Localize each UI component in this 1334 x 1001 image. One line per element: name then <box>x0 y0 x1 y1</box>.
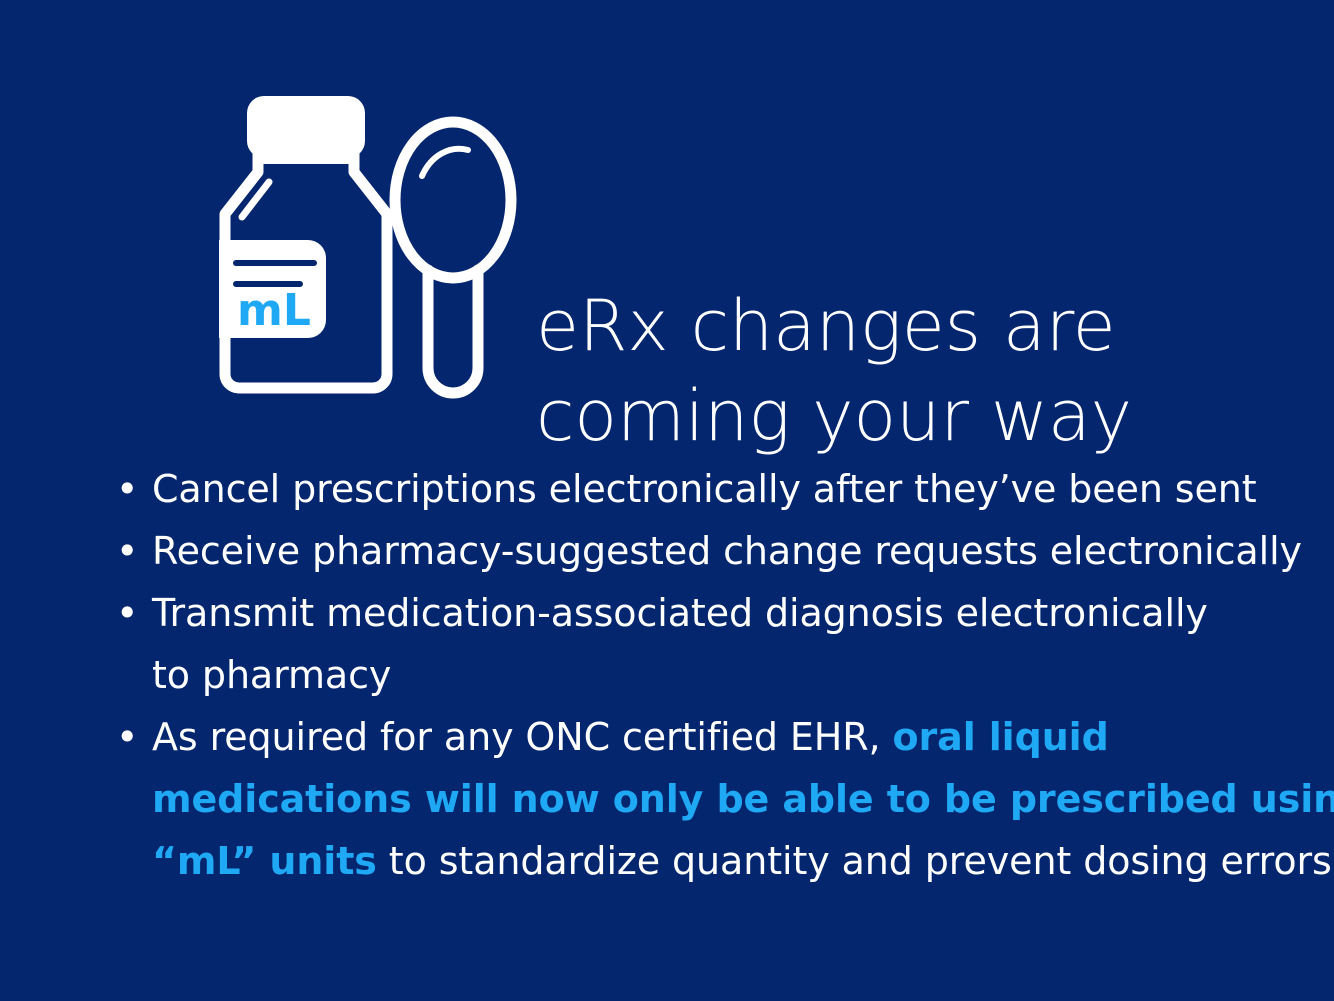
list-item-text: medications will now only be able to be … <box>152 768 1334 830</box>
plain-text: Receive pharmacy-suggested change reques… <box>152 529 1302 573</box>
spoon-handle-outline <box>428 270 478 393</box>
emphasis-text: oral liquid <box>893 715 1109 759</box>
list-item-text: to pharmacy <box>152 644 1290 706</box>
emphasis-text: medications will now only be able to be … <box>152 777 1334 821</box>
plain-text: to standardize quantity and prevent dosi… <box>377 839 1332 883</box>
bullet-marker-icon: • <box>110 706 152 768</box>
medicine-bottle-and-spoon-icon: mL <box>196 88 526 408</box>
list-item-continuation: •to pharmacy <box>110 644 1290 706</box>
list-item-continuation: •“mL” units to standardize quantity and … <box>110 830 1290 892</box>
list-item: •Receive pharmacy-suggested change reque… <box>110 520 1290 582</box>
plain-text: As required for any ONC certified EHR, <box>152 715 893 759</box>
list-item: •As required for any ONC certified EHR, … <box>110 706 1290 768</box>
list-item-continuation: •medications will now only be able to be… <box>110 768 1290 830</box>
emphasis-text: “mL” units <box>152 839 377 883</box>
page-title: eRx changes are coming your way <box>536 281 1176 461</box>
list-item-text: “mL” units to standardize quantity and p… <box>152 830 1332 892</box>
spoon-bowl-highlight <box>422 149 468 176</box>
list-item-text: Cancel prescriptions electronically afte… <box>152 458 1290 520</box>
list-item-text: Transmit medication-associated diagnosis… <box>152 582 1290 644</box>
label-ml-text: mL <box>237 285 311 336</box>
plain-text: Cancel prescriptions electronically afte… <box>152 467 1257 511</box>
plain-text: Transmit medication-associated diagnosis… <box>152 591 1208 635</box>
bullet-marker-icon: • <box>110 582 152 644</box>
spoon-bowl-outline <box>395 122 511 278</box>
bullet-marker-icon: • <box>110 458 152 520</box>
bottle-neck <box>258 146 354 164</box>
list-item-text: Receive pharmacy-suggested change reques… <box>152 520 1302 582</box>
feature-bullet-list: •Cancel prescriptions electronically aft… <box>110 458 1290 892</box>
list-item: •Transmit medication-associated diagnosi… <box>110 582 1290 644</box>
list-item-text: As required for any ONC certified EHR, o… <box>152 706 1290 768</box>
list-item: •Cancel prescriptions electronically aft… <box>110 458 1290 520</box>
bullet-marker-icon: • <box>110 520 152 582</box>
plain-text: to pharmacy <box>152 653 391 697</box>
slide-canvas: mL eRx changes are coming your way •Canc… <box>0 0 1334 1001</box>
